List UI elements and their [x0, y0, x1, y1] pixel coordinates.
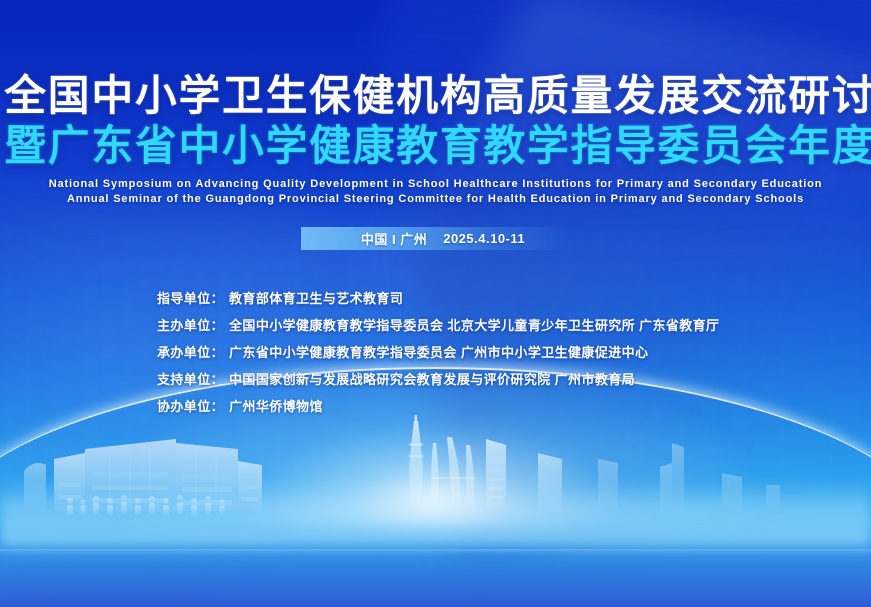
skyline-haze	[0, 487, 871, 545]
poster-title: 全国中小学卫生保健机构高质量发展交流研讨活动 暨广东省中小学健康教育教学指导委员…	[0, 72, 871, 170]
organizer-value: 中国国家创新与发展战略研究会教育发展与评价研究院 广州市教育局	[229, 369, 635, 388]
organizer-row: 指导单位： 教育部体育卫生与艺术教育司	[157, 288, 719, 315]
ground-haze	[0, 477, 871, 567]
organizer-row: 支持单位： 中国国家创新与发展战略研究会教育发展与评价研究院 广州市教育局	[157, 369, 719, 396]
event-date-banner: 中国 I 广州 2025.4.10-11	[301, 227, 569, 250]
poster-subtitle: National Symposium on Advancing Quality …	[0, 177, 871, 207]
organizer-row: 主办单位： 全国中小学健康教育教学指导委员会 北京大学儿童青少年卫生研究所 广东…	[157, 315, 719, 342]
organizer-list: 指导单位： 教育部体育卫生与艺术教育司 主办单位： 全国中小学健康教育教学指导委…	[157, 288, 719, 423]
organizer-value: 广东省中小学健康教育教学指导委员会 广州市中小学卫生健康促进中心	[229, 342, 648, 361]
event-date: 2025.4.10-11	[443, 231, 525, 246]
event-date-content: 中国 I 广州 2025.4.10-11	[361, 229, 525, 248]
organizer-value: 教育部体育卫生与艺术教育司	[229, 288, 403, 307]
organizer-label: 承办单位：	[157, 342, 224, 361]
organizer-label: 协办单位：	[157, 396, 224, 415]
organizer-row: 协办单位： 广州华侨博物馆	[157, 396, 719, 423]
conference-poster: 全国中小学卫生保健机构高质量发展交流研讨活动 暨广东省中小学健康教育教学指导委员…	[0, 0, 871, 607]
title-line-secondary: 暨广东省中小学健康教育教学指导委员会年度研讨活动	[4, 122, 866, 170]
organizer-row: 承办单位： 广东省中小学健康教育教学指导委员会 广州市中小学卫生健康促进中心	[157, 342, 719, 369]
subtitle-line-1: National Symposium on Advancing Quality …	[0, 177, 871, 192]
organizer-value: 广州华侨博物馆	[229, 396, 323, 415]
organizer-label: 支持单位：	[157, 369, 224, 388]
event-location: 中国 I 广州	[361, 229, 427, 248]
title-line-primary: 全国中小学卫生保健机构高质量发展交流研讨活动	[4, 72, 866, 120]
subtitle-line-2: Annual Seminar of the Guangdong Provinci…	[0, 192, 871, 207]
organizer-label: 主办单位：	[157, 315, 224, 334]
city-skyline-illustration	[0, 415, 871, 545]
organizer-value: 全国中小学健康教育教学指导委员会 北京大学儿童青少年卫生研究所 广东省教育厅	[229, 315, 719, 334]
organizer-label: 指导单位：	[157, 288, 224, 307]
